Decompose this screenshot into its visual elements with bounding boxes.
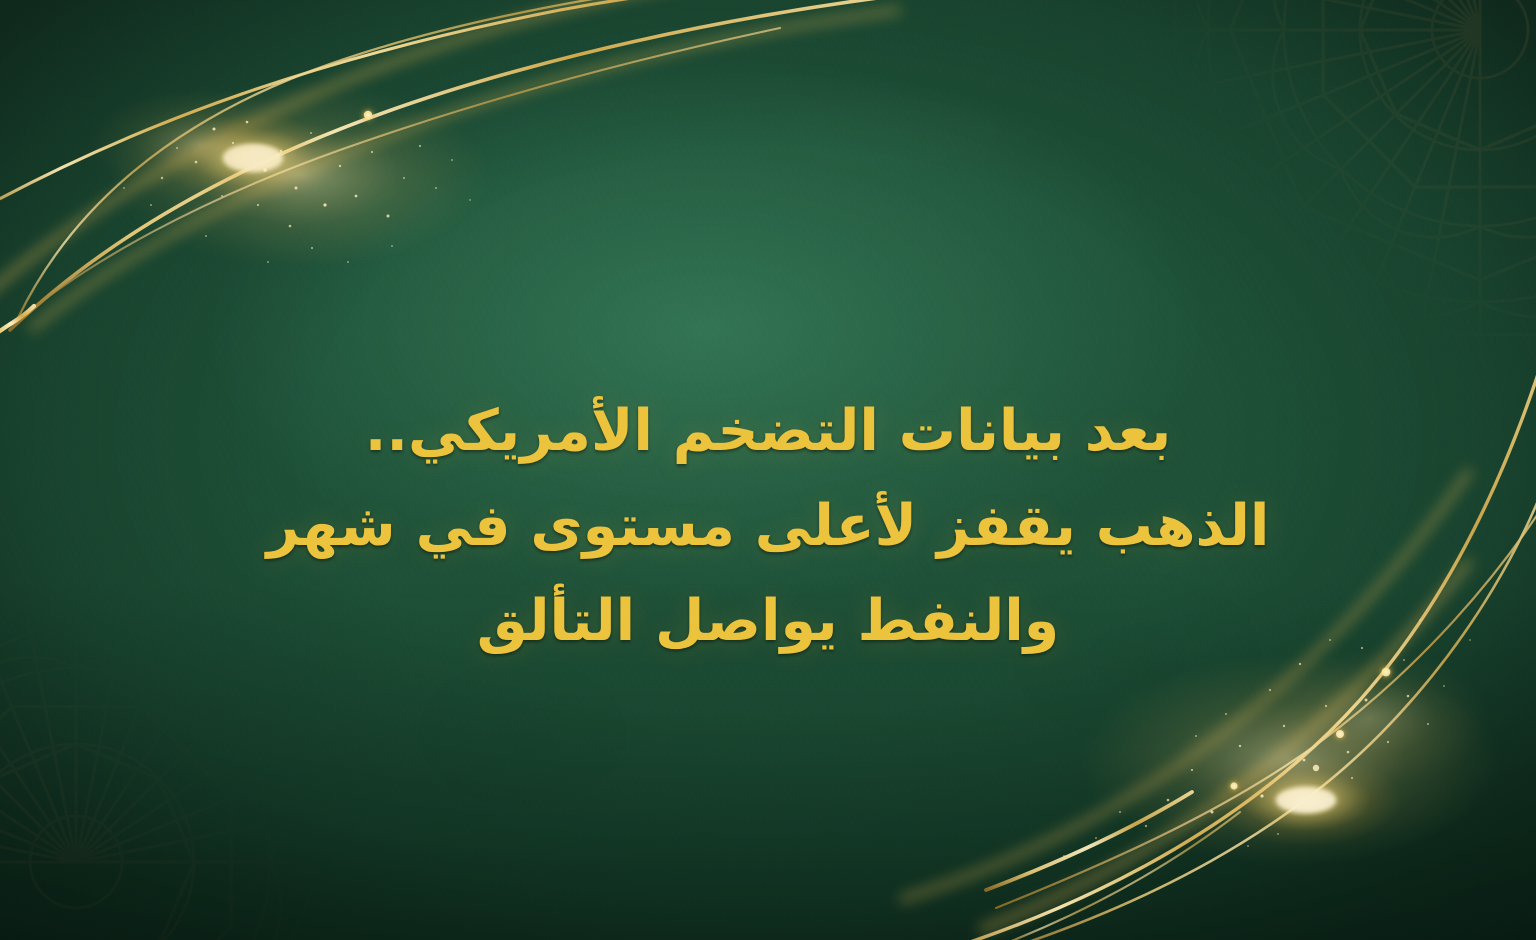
- headline-line-1: بعد بيانات التضخم الأمريكي..: [70, 384, 1466, 479]
- headline-block: بعد بيانات التضخم الأمريكي.. الذهب يقفز …: [0, 384, 1536, 669]
- headline-line-2: الذهب يقفز لأعلى مستوى في شهر: [70, 479, 1466, 574]
- headline-line-3: والنفط يواصل التألق: [70, 574, 1466, 669]
- news-headline-card: بعد بيانات التضخم الأمريكي.. الذهب يقفز …: [0, 0, 1536, 940]
